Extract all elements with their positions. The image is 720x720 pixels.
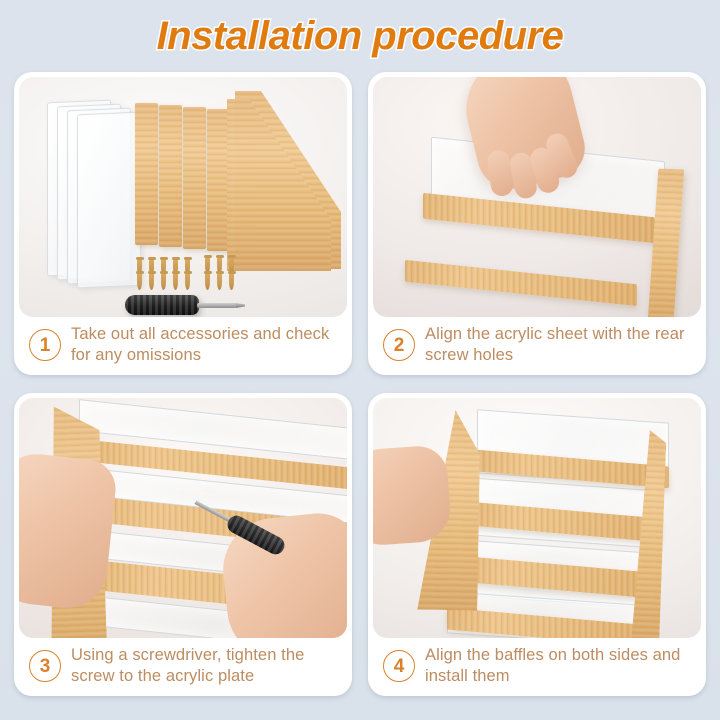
step-number-2: 2 (383, 329, 415, 361)
step-number-3: 3 (29, 650, 61, 682)
step-1-text: Take out all accessories and check for a… (71, 324, 343, 366)
acrylic-alignment-illustration (373, 77, 701, 317)
step-1-photo (19, 77, 347, 317)
step-card-2[interactable]: 2 Align the acrylic sheet with the rear … (368, 72, 706, 375)
steps-grid: 1 Take out all accessories and check for… (14, 72, 706, 696)
step-card-1[interactable]: 1 Take out all accessories and check for… (14, 72, 352, 375)
parts-layout-illustration (19, 77, 347, 317)
step-card-4[interactable]: 4 Align the baffles on both sides and in… (368, 393, 706, 696)
step-3-caption: 3 Using a screwdriver, tighten the screw… (19, 638, 347, 696)
bottom-shelf-slat (405, 260, 637, 306)
step-4-text: Align the baffles on both sides and inst… (425, 645, 697, 687)
step-card-3[interactable]: 3 Using a screwdriver, tighten the screw… (14, 393, 352, 696)
step-4-caption: 4 Align the baffles on both sides and in… (373, 638, 701, 696)
step-2-caption: 2 Align the acrylic sheet with the rear … (373, 317, 701, 375)
baffle-install-illustration (373, 398, 701, 638)
page-title: Installation procedure (157, 14, 564, 59)
step-3-photo (19, 398, 347, 638)
step-3-text: Using a screwdriver, tighten the screw t… (71, 645, 343, 687)
hand-graphic (373, 444, 452, 547)
step-number-1: 1 (29, 329, 61, 361)
step-2-photo (373, 77, 701, 317)
page-header: Installation procedure (0, 0, 720, 72)
screwdriver-tighten-illustration (19, 398, 347, 638)
step-1-caption: 1 Take out all accessories and check for… (19, 317, 347, 375)
step-4-photo (373, 398, 701, 638)
step-2-text: Align the acrylic sheet with the rear sc… (425, 324, 697, 366)
step-number-4: 4 (383, 650, 415, 682)
